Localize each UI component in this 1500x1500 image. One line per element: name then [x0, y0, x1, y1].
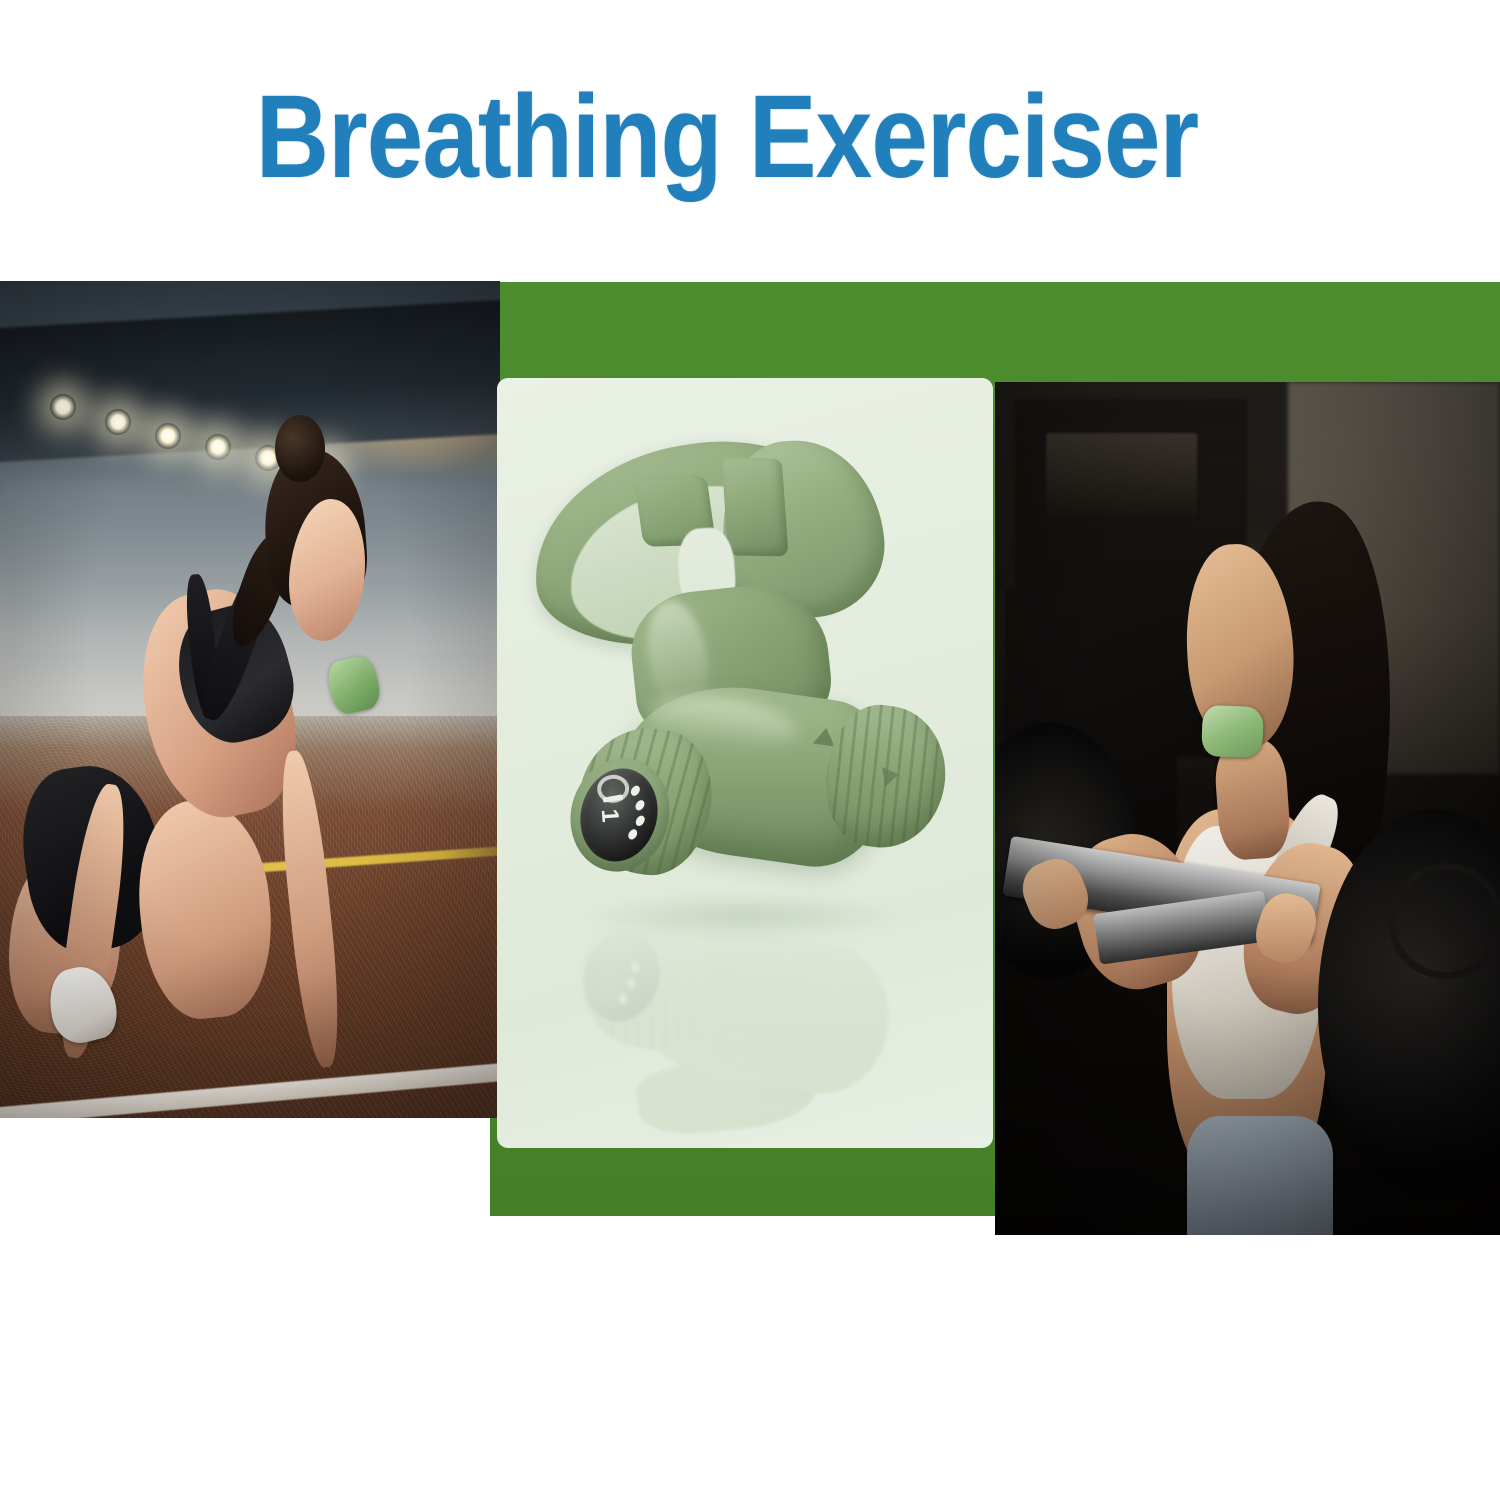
- dial-right-triangle-icon: [882, 764, 900, 786]
- gym-athlete-shorts: [1187, 1116, 1333, 1235]
- product-banner: Breathing Exerciser: [0, 0, 1500, 1500]
- device-in-mouth-gym: [1201, 705, 1263, 758]
- product-reflection: [527, 910, 963, 1140]
- end-cap-dot-icon: [634, 799, 647, 813]
- product-image-card: 1: [497, 378, 993, 1148]
- reflection-dot-icon: [619, 994, 627, 1004]
- end-cap-dot-icon: [626, 828, 639, 842]
- page-title-container: Breathing Exerciser: [0, 62, 1500, 212]
- end-cap-dot-icon: [629, 784, 642, 798]
- resistance-level-value: 1: [597, 808, 622, 823]
- photo-athlete-sprinter: [0, 281, 500, 1118]
- gym-dumbbell-shelf: [1046, 433, 1198, 518]
- mouthpiece-right-bite-tab: [721, 458, 788, 557]
- page-title: Breathing Exerciser: [256, 78, 1199, 196]
- product-device: 1: [527, 440, 963, 910]
- device-in-mouth-sprinter: [325, 653, 383, 716]
- sprinter-hair-bun: [275, 415, 325, 482]
- reflection-dot-icon: [627, 978, 635, 988]
- sprinter-figure: [0, 281, 500, 1118]
- end-cap-dot-icon: [634, 814, 647, 828]
- photo-athlete-gym: [995, 382, 1500, 1235]
- reflection-dot-icon: [631, 962, 639, 972]
- sprinter-right-arm: [273, 748, 346, 1068]
